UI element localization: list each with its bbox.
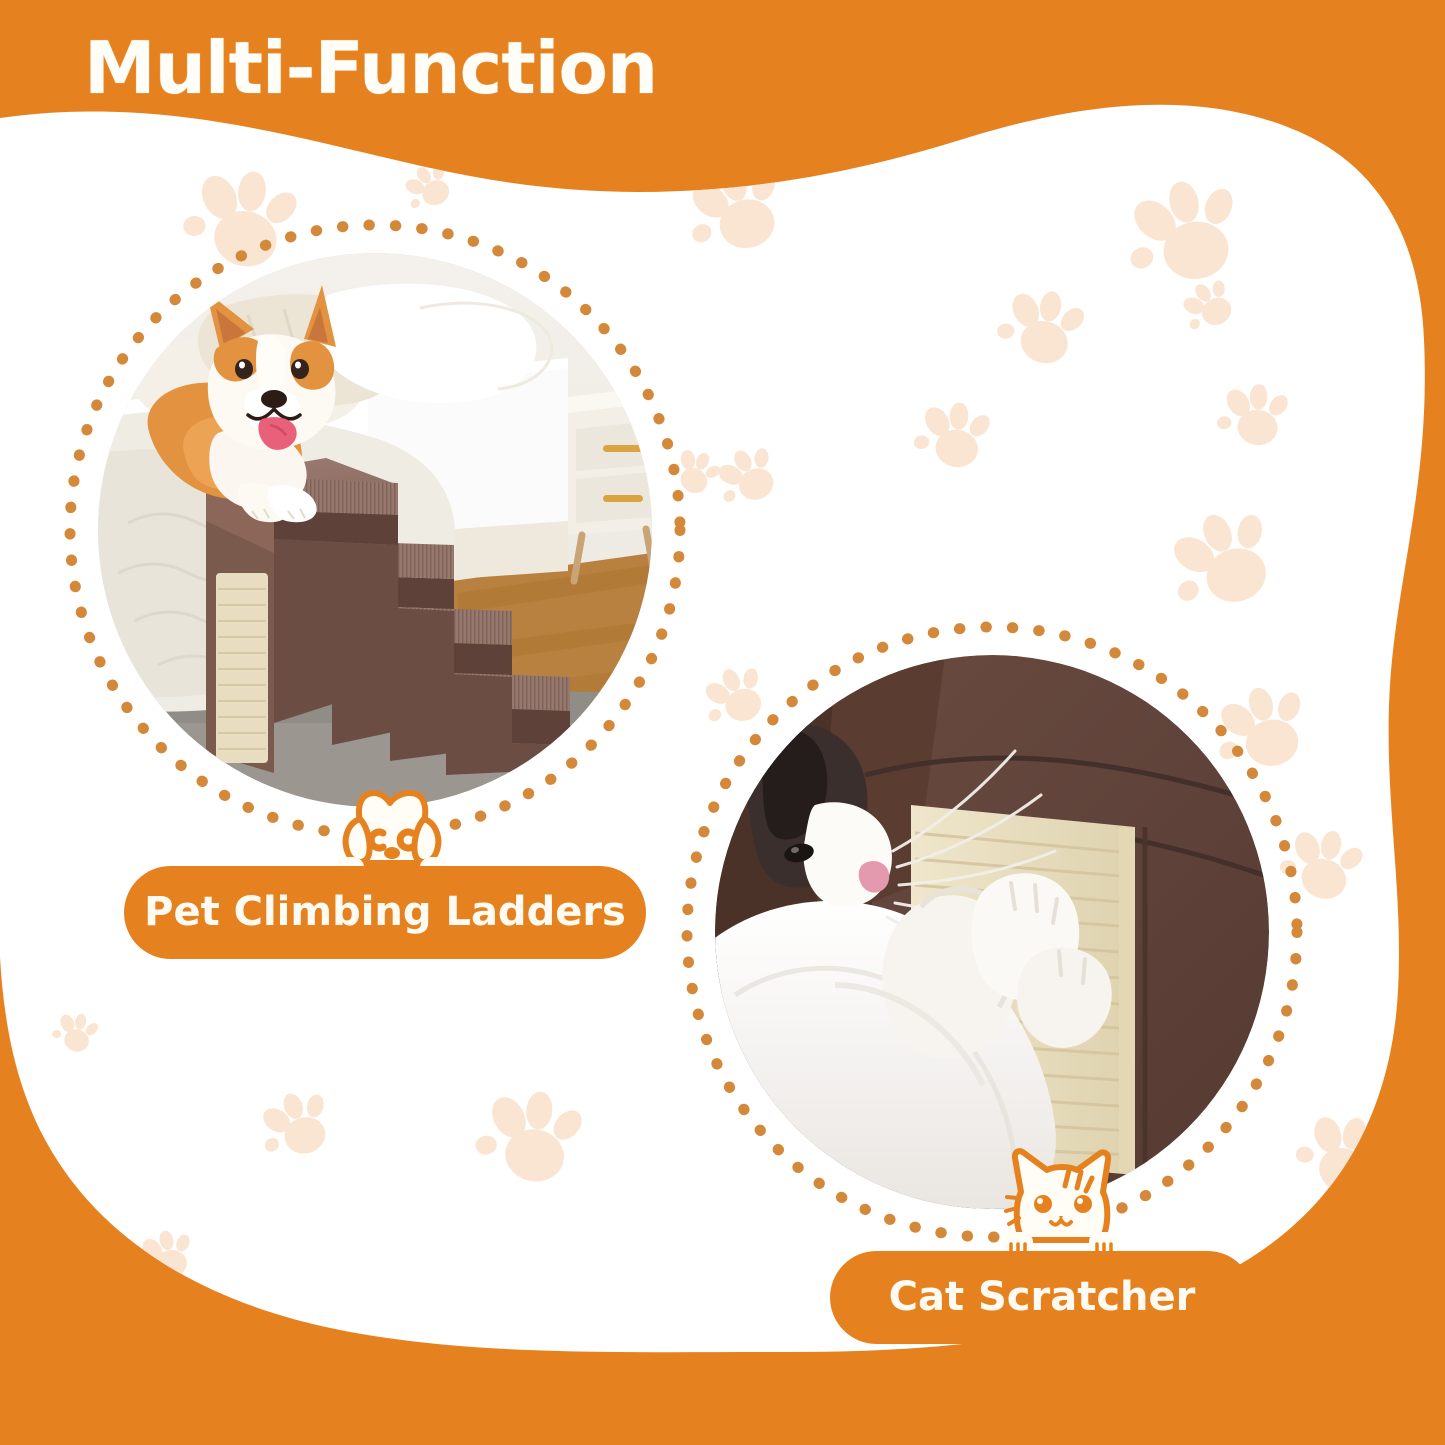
feature-photo-pet-climbing-ladders xyxy=(55,210,695,850)
infographic-canvas: Multi-Function xyxy=(0,0,1445,1445)
page-title: Multi-Function xyxy=(84,32,657,104)
photo-cat-scratching xyxy=(715,655,1269,1209)
feature-photo-cat-scratcher xyxy=(672,612,1312,1252)
cat-peeking-icon xyxy=(1003,1146,1119,1258)
feature-badge-cat-scratcher[interactable]: Cat Scratcher xyxy=(830,1251,1254,1344)
feature-badge-label: Pet Climbing Ladders xyxy=(144,889,626,935)
photo-dog-on-stairs xyxy=(98,253,652,807)
feature-badge-pet-climbing-ladders[interactable]: Pet Climbing Ladders xyxy=(124,866,646,959)
feature-badge-label: Cat Scratcher xyxy=(889,1274,1196,1320)
